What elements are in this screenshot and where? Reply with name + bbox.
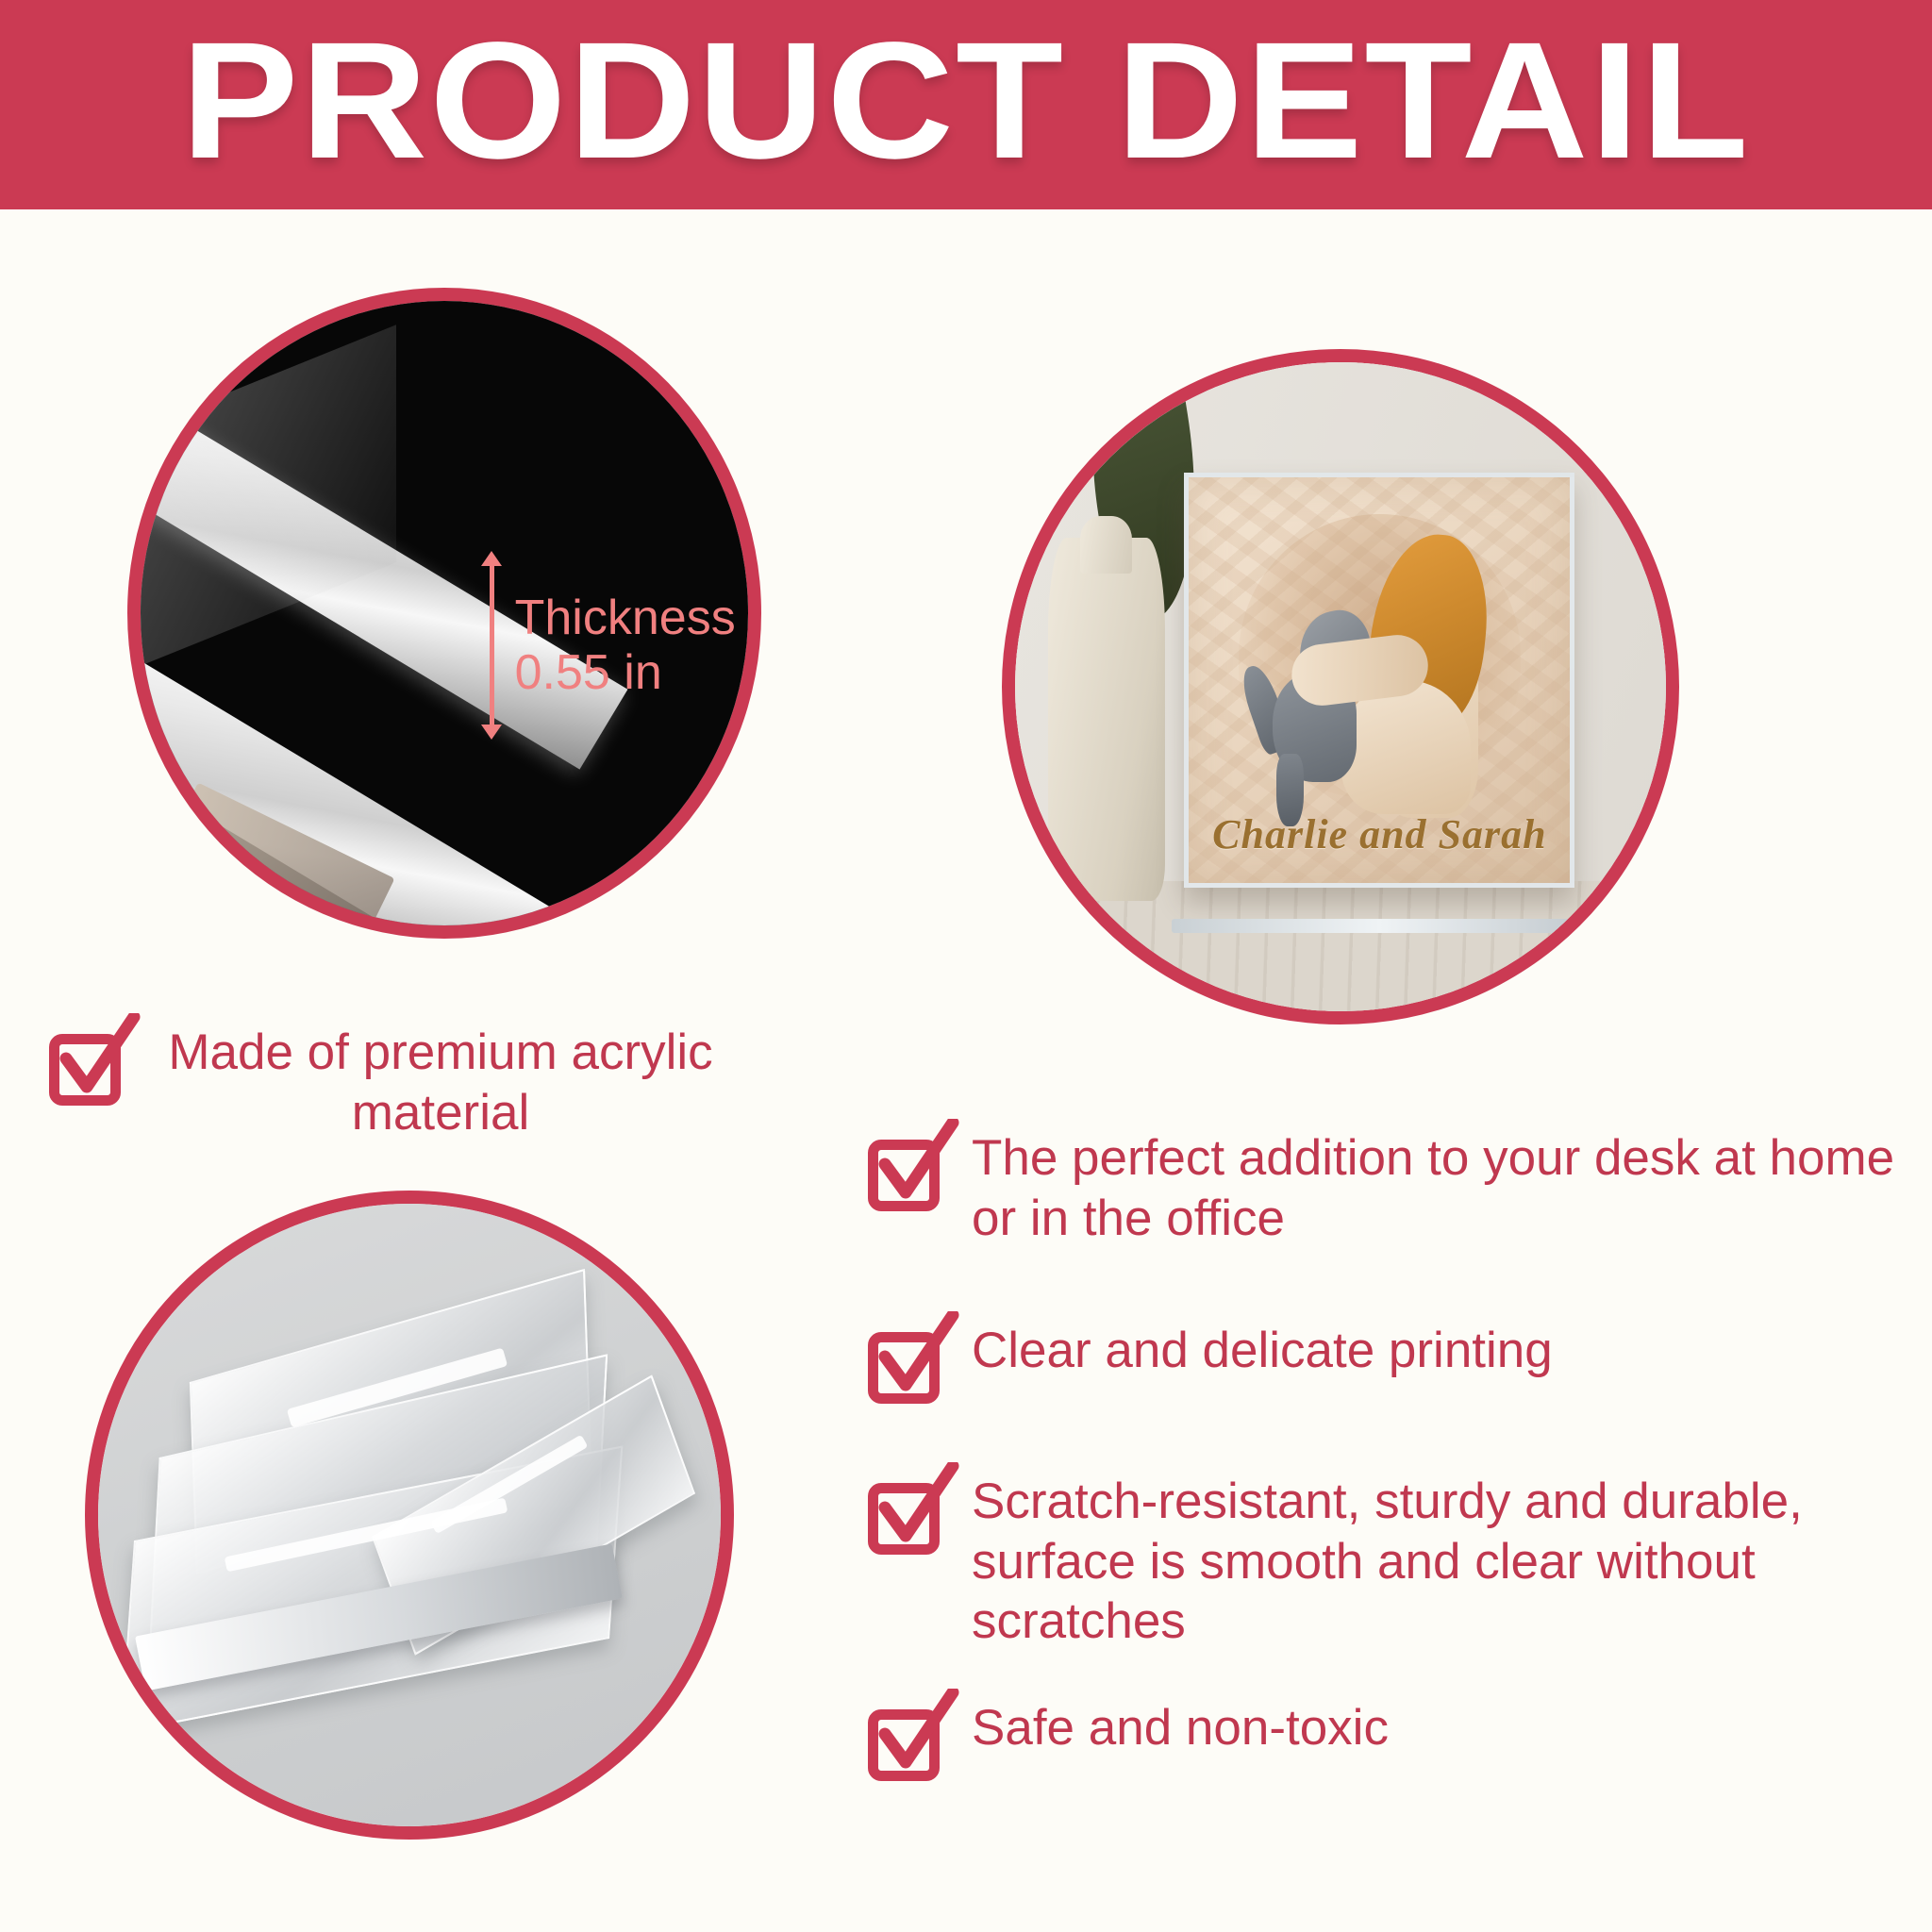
feature-label: Made of premium acrylic material	[153, 1023, 728, 1142]
photo-acrylic-sheets	[85, 1191, 734, 1840]
room-scene: Charlie and Sarah	[1015, 362, 1666, 1011]
header-banner: PRODUCT DETAIL	[0, 0, 1932, 209]
black-backdrop: Thickness 0.55 in	[141, 301, 748, 925]
checkbox-checked-icon	[868, 1324, 947, 1404]
grey-backdrop	[98, 1204, 721, 1826]
wood-shelf-surface	[1015, 881, 1666, 1011]
feature-item-acrylic: Made of premium acrylic material	[49, 1023, 766, 1142]
page-title: PRODUCT DETAIL	[181, 18, 1751, 192]
checkbox-checked-icon	[868, 1132, 947, 1211]
ceramic-vase	[1048, 538, 1165, 901]
feature-label: Safe and non-toxic	[972, 1698, 1389, 1758]
double-arrow-icon	[481, 551, 502, 740]
feature-label: Clear and delicate printing	[972, 1321, 1553, 1381]
photo-product-plaque: Charlie and Sarah	[1002, 349, 1679, 1024]
feature-item-desk: The perfect addition to your desk at hom…	[868, 1128, 1906, 1248]
thickness-label-line2: 0.55 in	[515, 645, 736, 700]
acrylic-plaque: Charlie and Sarah	[1184, 473, 1574, 888]
thickness-label: Thickness 0.55 in	[515, 591, 736, 700]
feature-item-printing: Clear and delicate printing	[868, 1321, 1906, 1404]
photo-thickness-closeup: Thickness 0.55 in	[127, 288, 761, 939]
feature-label: The perfect addition to your desk at hom…	[972, 1128, 1906, 1248]
feature-item-safe: Safe and non-toxic	[868, 1698, 1906, 1781]
thickness-callout: Thickness 0.55 in	[481, 551, 736, 740]
feature-label: Scratch-resistant, sturdy and durable, s…	[972, 1472, 1906, 1652]
engraved-name-text: Charlie and Sarah	[1189, 810, 1570, 858]
plaque-base-edge	[1172, 919, 1589, 933]
checkbox-checked-icon	[868, 1702, 947, 1781]
checkbox-checked-icon	[49, 1026, 128, 1106]
thickness-label-line1: Thickness	[515, 591, 736, 645]
checkbox-checked-icon	[868, 1475, 947, 1555]
feature-item-scratch: Scratch-resistant, sturdy and durable, s…	[868, 1472, 1906, 1652]
